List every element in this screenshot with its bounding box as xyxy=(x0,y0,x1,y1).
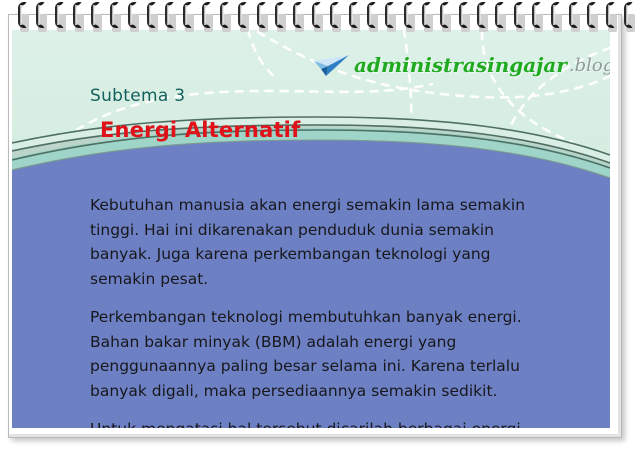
spiral-ring-highlight xyxy=(351,5,353,25)
spiral-ring-highlight xyxy=(589,5,591,25)
spiral-ring-highlight xyxy=(479,5,481,25)
spiral-ring xyxy=(551,2,562,31)
page-title: Energi Alternatif xyxy=(100,118,300,142)
spiral-ring-highlight xyxy=(608,5,610,25)
spiral-ring xyxy=(532,2,543,31)
spiral-ring xyxy=(606,2,617,31)
spiral-ring xyxy=(312,2,323,31)
spiral-ring-highlight xyxy=(185,5,187,25)
spiral-ring xyxy=(36,2,47,31)
spiral-ring xyxy=(275,2,286,31)
watermark: administrasingajar .blogspot.com xyxy=(312,52,610,78)
spiral-ring xyxy=(349,2,360,31)
spiral-ring xyxy=(404,2,415,31)
spiral-ring xyxy=(367,2,378,31)
spiral-ring xyxy=(55,2,66,31)
spiral-ring-highlight xyxy=(112,5,114,25)
spiral-ring-highlight xyxy=(75,5,77,25)
spiral-ring-highlight xyxy=(20,5,22,25)
spiral-ring-highlight xyxy=(93,5,95,25)
spiral-ring-highlight xyxy=(406,5,408,25)
notebook-page: Subtema 3 Energi Alternatif administrasi… xyxy=(0,0,640,452)
spiral-ring-highlight xyxy=(57,5,59,25)
spiral-ring xyxy=(257,2,268,31)
paragraph-2: Perkembangan teknologi membutuhkan banya… xyxy=(90,305,560,403)
spiral-ring xyxy=(385,2,396,31)
paragraph-3: Untuk mengatasi hal tersebut dicarilah b… xyxy=(90,417,560,428)
spiral-ring xyxy=(110,2,121,31)
paragraph-1: Kebutuhan manusia akan energi semakin la… xyxy=(90,193,560,291)
spiral-ring-highlight xyxy=(130,5,132,25)
spiral-ring xyxy=(624,2,635,31)
spiral-ring xyxy=(183,2,194,31)
spiral-ring-highlight xyxy=(222,5,224,25)
spiral-ring-highlight xyxy=(149,5,151,25)
spiral-ring xyxy=(91,2,102,31)
spiral-ring xyxy=(73,2,84,31)
spiral-ring xyxy=(477,2,488,31)
spiral-ring-highlight xyxy=(38,5,40,25)
content-card: Subtema 3 Energi Alternatif administrasi… xyxy=(12,30,610,428)
spiral-ring-highlight xyxy=(259,5,261,25)
spiral-ring-highlight xyxy=(497,5,499,25)
paper-plane-icon xyxy=(312,52,352,78)
spiral-ring-highlight xyxy=(387,5,389,25)
spiral-ring xyxy=(18,2,29,31)
spiral-ring xyxy=(238,2,249,31)
spiral-ring-highlight xyxy=(295,5,297,25)
spiral-ring-highlight xyxy=(314,5,316,25)
spiral-ring xyxy=(459,2,470,31)
watermark-domain: .blogspot.com xyxy=(569,55,610,76)
spiral-ring-highlight xyxy=(167,5,169,25)
spiral-ring xyxy=(220,2,231,31)
spiral-ring xyxy=(422,2,433,31)
body-text: Kebutuhan manusia akan energi semakin la… xyxy=(90,193,560,428)
spiral-ring-highlight xyxy=(553,5,555,25)
spiral-ring-highlight xyxy=(332,5,334,25)
spiral-ring-highlight xyxy=(240,5,242,25)
spiral-ring-highlight xyxy=(369,5,371,25)
spiral-ring xyxy=(165,2,176,31)
spiral-ring xyxy=(330,2,341,31)
watermark-brand: administrasingajar xyxy=(354,53,567,77)
spiral-ring xyxy=(569,2,580,31)
spiral-ring-highlight xyxy=(534,5,536,25)
spiral-ring xyxy=(293,2,304,31)
spiral-ring xyxy=(128,2,139,31)
spiral-ring-highlight xyxy=(461,5,463,25)
spiral-ring-highlight xyxy=(424,5,426,25)
spiral-ring-highlight xyxy=(204,5,206,25)
spiral-ring xyxy=(202,2,213,31)
spiral-ring xyxy=(495,2,506,31)
spiral-ring-highlight xyxy=(571,5,573,25)
spiral-ring xyxy=(440,2,451,31)
spiral-ring-highlight xyxy=(516,5,518,25)
spiral-ring xyxy=(147,2,158,31)
spiral-ring-highlight xyxy=(442,5,444,25)
spiral-ring-highlight xyxy=(626,5,628,25)
spiral-binding xyxy=(0,0,640,34)
spiral-ring xyxy=(587,2,598,31)
subtema-label: Subtema 3 xyxy=(90,86,185,106)
spiral-ring-highlight xyxy=(277,5,279,25)
spiral-ring xyxy=(514,2,525,31)
